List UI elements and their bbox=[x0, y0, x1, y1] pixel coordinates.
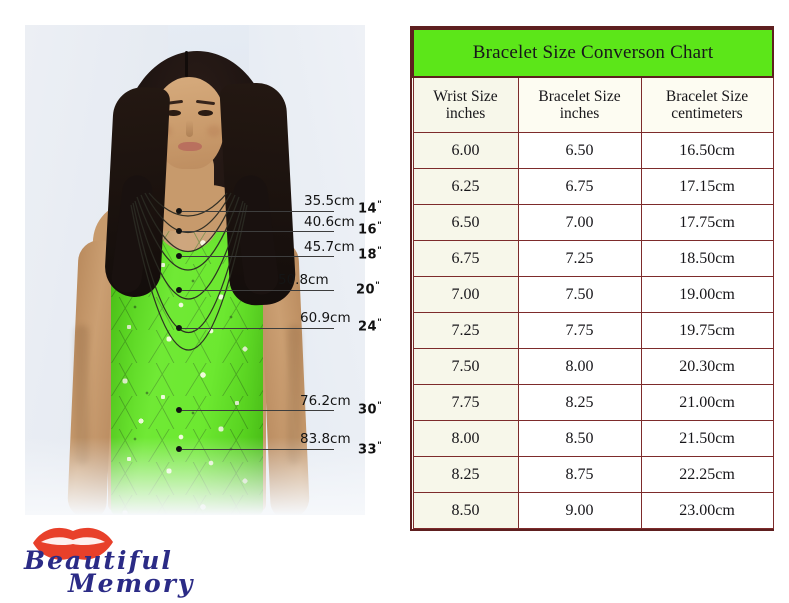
cell-bracelet-in: 6.75 bbox=[518, 169, 641, 205]
header-wrist-line2: inches bbox=[446, 105, 486, 122]
table-row: 8.00 8.50 21.50cm bbox=[413, 421, 773, 457]
measure-cm-33in: 83.8cm bbox=[300, 431, 351, 447]
cell-wrist-in: 6.00 bbox=[413, 133, 518, 169]
cell-bracelet-cm: 22.25cm bbox=[641, 457, 773, 493]
cell-wrist-in: 7.50 bbox=[413, 349, 518, 385]
cell-bracelet-in: 7.00 bbox=[518, 205, 641, 241]
table-row: 7.50 8.00 20.30cm bbox=[413, 349, 773, 385]
table-row: 6.50 7.00 17.75cm bbox=[413, 205, 773, 241]
header-bracelet-size-centimeters: Bracelet Size centimeters bbox=[641, 77, 773, 133]
measure-inch-16in: 16" bbox=[358, 221, 382, 237]
header-wrist-line1: Wrist Size bbox=[433, 88, 497, 105]
cell-bracelet-in: 7.50 bbox=[518, 277, 641, 313]
cell-bracelet-cm: 17.15cm bbox=[641, 169, 773, 205]
cell-wrist-in: 6.75 bbox=[413, 241, 518, 277]
cell-bracelet-in: 7.25 bbox=[518, 241, 641, 277]
cell-wrist-in: 7.75 bbox=[413, 385, 518, 421]
cell-bracelet-cm: 20.30cm bbox=[641, 349, 773, 385]
chart-title: Bracelet Size Converson Chart bbox=[413, 29, 773, 77]
header-bracelet-cm-line2: centimeters bbox=[671, 105, 742, 122]
measure-cm-20in: 50.8cm bbox=[278, 272, 329, 288]
header-bracelet-size-inches: Bracelet Size inches bbox=[518, 77, 641, 133]
table-row: 6.75 7.25 18.50cm bbox=[413, 241, 773, 277]
cell-bracelet-in: 8.00 bbox=[518, 349, 641, 385]
cell-bracelet-in: 9.00 bbox=[518, 493, 641, 529]
cell-bracelet-in: 7.75 bbox=[518, 313, 641, 349]
cell-wrist-in: 8.50 bbox=[413, 493, 518, 529]
table-row: 6.25 6.75 17.15cm bbox=[413, 169, 773, 205]
cell-wrist-in: 8.25 bbox=[413, 457, 518, 493]
measure-inch-33in: 33" bbox=[358, 441, 382, 457]
cell-bracelet-cm: 16.50cm bbox=[641, 133, 773, 169]
measure-cm-16in: 40.6cm bbox=[304, 214, 355, 230]
table-row: 7.75 8.25 21.00cm bbox=[413, 385, 773, 421]
bracelet-size-chart: Bracelet Size Converson Chart Wrist Size… bbox=[410, 26, 774, 531]
cell-bracelet-cm: 19.75cm bbox=[641, 313, 773, 349]
size-chart-page: 35.5cm 14" 40.6cm 16" 45.7cm 18" 50.8cm … bbox=[0, 0, 789, 603]
cell-bracelet-cm: 23.00cm bbox=[641, 493, 773, 529]
header-bracelet-in-line2: inches bbox=[560, 105, 600, 122]
cell-bracelet-in: 8.50 bbox=[518, 421, 641, 457]
table-row: 7.25 7.75 19.75cm bbox=[413, 313, 773, 349]
header-bracelet-cm-line1: Bracelet Size bbox=[666, 88, 748, 105]
cell-bracelet-cm: 21.50cm bbox=[641, 421, 773, 457]
cell-wrist-in: 7.25 bbox=[413, 313, 518, 349]
measure-cm-14in: 35.5cm bbox=[304, 193, 355, 209]
cell-bracelet-cm: 18.50cm bbox=[641, 241, 773, 277]
table-row: 7.00 7.50 19.00cm bbox=[413, 277, 773, 313]
measure-line-24in bbox=[182, 328, 334, 329]
measure-inch-24in: 24" bbox=[358, 318, 382, 334]
table-row: 8.50 9.00 23.00cm bbox=[413, 493, 773, 529]
measure-line-20in bbox=[182, 290, 334, 291]
measure-line-33in bbox=[182, 449, 334, 450]
measure-inch-14in: 14" bbox=[358, 200, 382, 216]
table-row: 6.00 6.50 16.50cm bbox=[413, 133, 773, 169]
cell-bracelet-in: 8.25 bbox=[518, 385, 641, 421]
measure-cm-24in: 60.9cm bbox=[300, 310, 351, 326]
cell-wrist-in: 6.50 bbox=[413, 205, 518, 241]
table-header-row: Wrist Size inches Bracelet Size inches B… bbox=[413, 77, 773, 133]
measure-line-18in bbox=[182, 256, 334, 257]
table-row: 8.25 8.75 22.25cm bbox=[413, 457, 773, 493]
cell-bracelet-cm: 17.75cm bbox=[641, 205, 773, 241]
measure-line-30in bbox=[182, 410, 334, 411]
chart-title-row: Bracelet Size Converson Chart bbox=[413, 29, 773, 77]
cell-wrist-in: 6.25 bbox=[413, 169, 518, 205]
measure-inch-18in: 18" bbox=[358, 246, 382, 262]
measure-line-14in bbox=[182, 211, 334, 212]
cell-bracelet-cm: 21.00cm bbox=[641, 385, 773, 421]
brand-name: Beautiful Memory bbox=[20, 548, 200, 596]
measure-cm-18in: 45.7cm bbox=[304, 239, 355, 255]
brand-logo: Beautiful Memory bbox=[12, 524, 202, 596]
measure-line-16in bbox=[182, 231, 334, 232]
header-wrist-size-inches: Wrist Size inches bbox=[413, 77, 518, 133]
measure-inch-30in: 30" bbox=[358, 401, 382, 417]
cell-bracelet-cm: 19.00cm bbox=[641, 277, 773, 313]
size-conversion-table: Bracelet Size Converson Chart Wrist Size… bbox=[412, 28, 774, 529]
cell-bracelet-in: 6.50 bbox=[518, 133, 641, 169]
measure-inch-20in: 20" bbox=[356, 281, 380, 297]
cell-wrist-in: 7.00 bbox=[413, 277, 518, 313]
header-bracelet-in-line1: Bracelet Size bbox=[538, 88, 620, 105]
cell-bracelet-in: 8.75 bbox=[518, 457, 641, 493]
measure-cm-30in: 76.2cm bbox=[300, 393, 351, 409]
cell-wrist-in: 8.00 bbox=[413, 421, 518, 457]
